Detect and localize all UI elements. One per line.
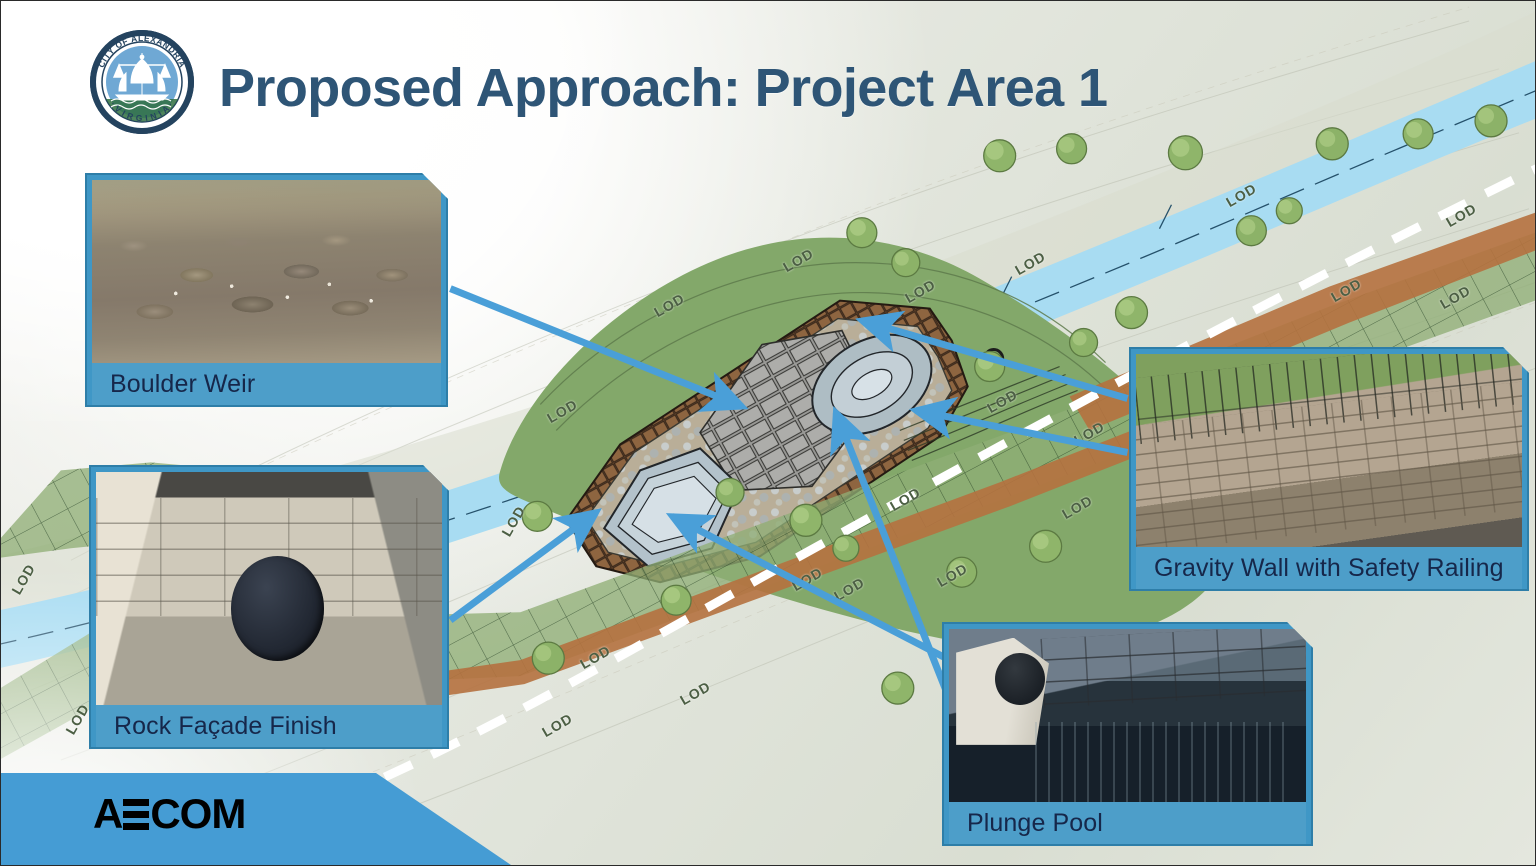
city-of-alexandria-seal-icon: CITY OF ALEXANDRIA · V I R G I N I A ·	[89, 29, 195, 135]
aecom-logo-a: A	[93, 790, 122, 838]
callout-card-rock-facade[interactable]: Rock Façade Finish	[89, 465, 449, 749]
callout-label: Boulder Weir	[92, 363, 441, 405]
aecom-logo-e-icon	[123, 799, 149, 830]
callout-label: Plunge Pool	[949, 802, 1306, 844]
callout-label: Gravity Wall with Safety Railing	[1136, 547, 1522, 589]
culvert-pipe-opening	[231, 556, 324, 661]
callout-card-boulder-weir[interactable]: Boulder Weir	[85, 173, 448, 407]
callout-card-plunge-pool[interactable]: Plunge Pool	[942, 622, 1313, 846]
gravity-wall-photo	[1136, 354, 1522, 547]
boulder-weir-photo	[92, 180, 441, 363]
plunge-pool-photo	[949, 629, 1306, 802]
aecom-logo: A COM	[93, 790, 245, 838]
water-reflection	[1035, 722, 1292, 802]
aecom-logo-com: COM	[150, 790, 245, 838]
callout-label: Rock Façade Finish	[96, 705, 442, 747]
rock-facade-photo	[96, 472, 442, 705]
callout-card-gravity-wall[interactable]: Gravity Wall with Safety Railing	[1129, 347, 1529, 591]
presentation-slide: LOD LOD LOD LOD LOD LOD LOD LOD LOD LOD …	[0, 0, 1536, 866]
page-title: Proposed Approach: Project Area 1	[219, 57, 1107, 119]
stone-wall-texture	[1040, 629, 1306, 709]
